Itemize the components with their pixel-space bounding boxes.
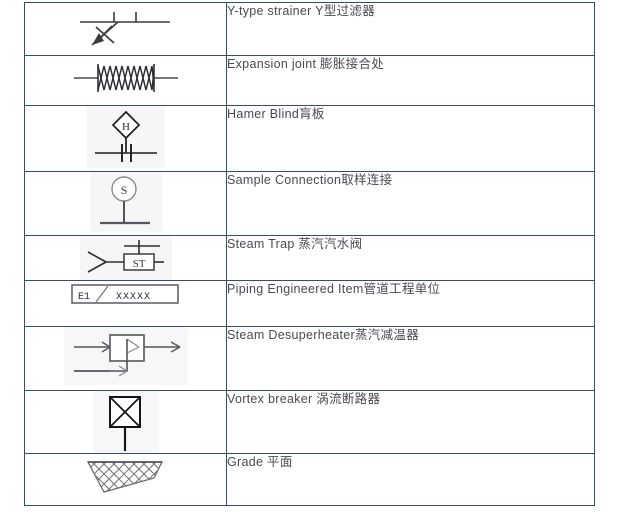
table-row: Expansion joint 膨胀接合处 <box>25 56 595 106</box>
table-row: Grade 平面 <box>25 454 595 506</box>
description-cell: Steam Trap 蒸汽汽水阀 <box>227 236 595 281</box>
piping-symbol-legend-table: Y-type strainer Y型过滤器 <box>24 2 595 506</box>
table-row: Steam Desuperheater蒸汽减温器 <box>25 327 595 391</box>
piping-engineered-item-symbol: E1 XXXXX <box>70 281 182 307</box>
symbol-cell <box>25 391 227 454</box>
steam-desuperheater-symbol <box>64 327 188 385</box>
hamer-blind-label: H <box>122 121 130 133</box>
symbol-cell: H <box>25 106 227 172</box>
description-cell: Piping Engineered Item管道工程单位 <box>227 281 595 327</box>
steam-trap-label: ST <box>132 258 145 270</box>
table-row: S Sample Connection取样连接 <box>25 172 595 236</box>
expansion-joint-symbol <box>66 56 186 100</box>
description-cell: Steam Desuperheater蒸汽减温器 <box>227 327 595 391</box>
grade-symbol <box>74 454 178 498</box>
sample-connection-symbol: S <box>90 172 162 232</box>
symbol-cell: ST <box>25 236 227 281</box>
piping-item-code: E1 <box>78 292 90 303</box>
symbol-cell <box>25 327 227 391</box>
description-cell: Y-type strainer Y型过滤器 <box>227 3 595 56</box>
description-cell: Hamer Blind肓板 <box>227 106 595 172</box>
description-cell: Expansion joint 膨胀接合处 <box>227 56 595 106</box>
table-row: E1 XXXXX Piping Engineered Item管道工程单位 <box>25 281 595 327</box>
description-cell: Grade 平面 <box>227 454 595 506</box>
symbol-cell <box>25 454 227 506</box>
symbol-cell: S <box>25 172 227 236</box>
vortex-breaker-symbol <box>93 391 159 453</box>
hamer-blind-symbol: H <box>87 106 165 168</box>
piping-item-number: XXXXX <box>116 292 151 303</box>
table-row: H Hamer Blind肓板 <box>25 106 595 172</box>
symbol-cell <box>25 3 227 56</box>
sample-connection-label: S <box>120 183 127 197</box>
symbol-cell: E1 XXXXX <box>25 281 227 327</box>
y-type-strainer-symbol <box>66 3 186 51</box>
steam-trap-symbol: ST <box>80 236 172 280</box>
description-cell: Vortex breaker 涡流断路器 <box>227 391 595 454</box>
description-cell: Sample Connection取样连接 <box>227 172 595 236</box>
symbol-cell <box>25 56 227 106</box>
table-row: Vortex breaker 涡流断路器 <box>25 391 595 454</box>
table-row: Y-type strainer Y型过滤器 <box>25 3 595 56</box>
table-row: ST Steam Trap 蒸汽汽水阀 <box>25 236 595 281</box>
